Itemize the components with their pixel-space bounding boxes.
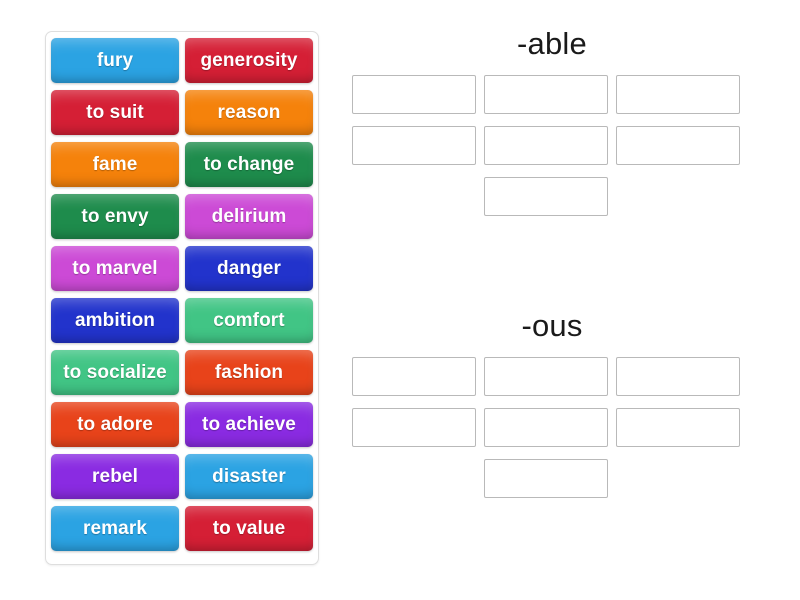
drop-slot[interactable] <box>484 357 608 396</box>
word-tile[interactable]: to envy <box>51 194 179 239</box>
word-tile[interactable]: generosity <box>185 38 313 83</box>
drop-slots-ous <box>352 357 752 498</box>
word-tile[interactable]: fame <box>51 142 179 187</box>
drop-slot[interactable] <box>484 459 608 498</box>
word-tile[interactable]: disaster <box>185 454 313 499</box>
drop-slot[interactable] <box>484 126 608 165</box>
drop-slot[interactable] <box>352 126 476 165</box>
drop-slot[interactable] <box>616 408 740 447</box>
word-tile[interactable]: to adore <box>51 402 179 447</box>
drop-slot[interactable] <box>352 357 476 396</box>
word-tile[interactable]: to change <box>185 142 313 187</box>
word-tile[interactable]: ambition <box>51 298 179 343</box>
word-tile[interactable]: to value <box>185 506 313 551</box>
drop-slot[interactable] <box>616 75 740 114</box>
word-tile[interactable]: fashion <box>185 350 313 395</box>
drop-group-ous: -ous <box>352 310 752 498</box>
word-tile[interactable]: to suit <box>51 90 179 135</box>
group-title-able: -able <box>352 28 752 59</box>
word-tile[interactable]: to achieve <box>185 402 313 447</box>
word-tile[interactable]: comfort <box>185 298 313 343</box>
drop-group-able: -able <box>352 28 752 216</box>
drop-slot[interactable] <box>484 75 608 114</box>
drop-slots-able <box>352 75 752 216</box>
word-tile[interactable]: fury <box>51 38 179 83</box>
word-tile[interactable]: rebel <box>51 454 179 499</box>
word-bank-grid: furygenerosityto suitreasonfameto change… <box>51 38 313 551</box>
group-title-ous: -ous <box>352 310 752 341</box>
word-tile[interactable]: to marvel <box>51 246 179 291</box>
word-tile[interactable]: delirium <box>185 194 313 239</box>
drop-slot[interactable] <box>484 408 608 447</box>
word-tile[interactable]: reason <box>185 90 313 135</box>
word-tile[interactable]: to socialize <box>51 350 179 395</box>
word-tile[interactable]: danger <box>185 246 313 291</box>
word-tile[interactable]: remark <box>51 506 179 551</box>
drop-slot[interactable] <box>484 177 608 216</box>
drop-slot[interactable] <box>352 75 476 114</box>
drop-slot[interactable] <box>616 126 740 165</box>
word-bank-panel[interactable]: furygenerosityto suitreasonfameto change… <box>45 31 319 565</box>
drop-slot[interactable] <box>616 357 740 396</box>
drop-slot[interactable] <box>352 408 476 447</box>
